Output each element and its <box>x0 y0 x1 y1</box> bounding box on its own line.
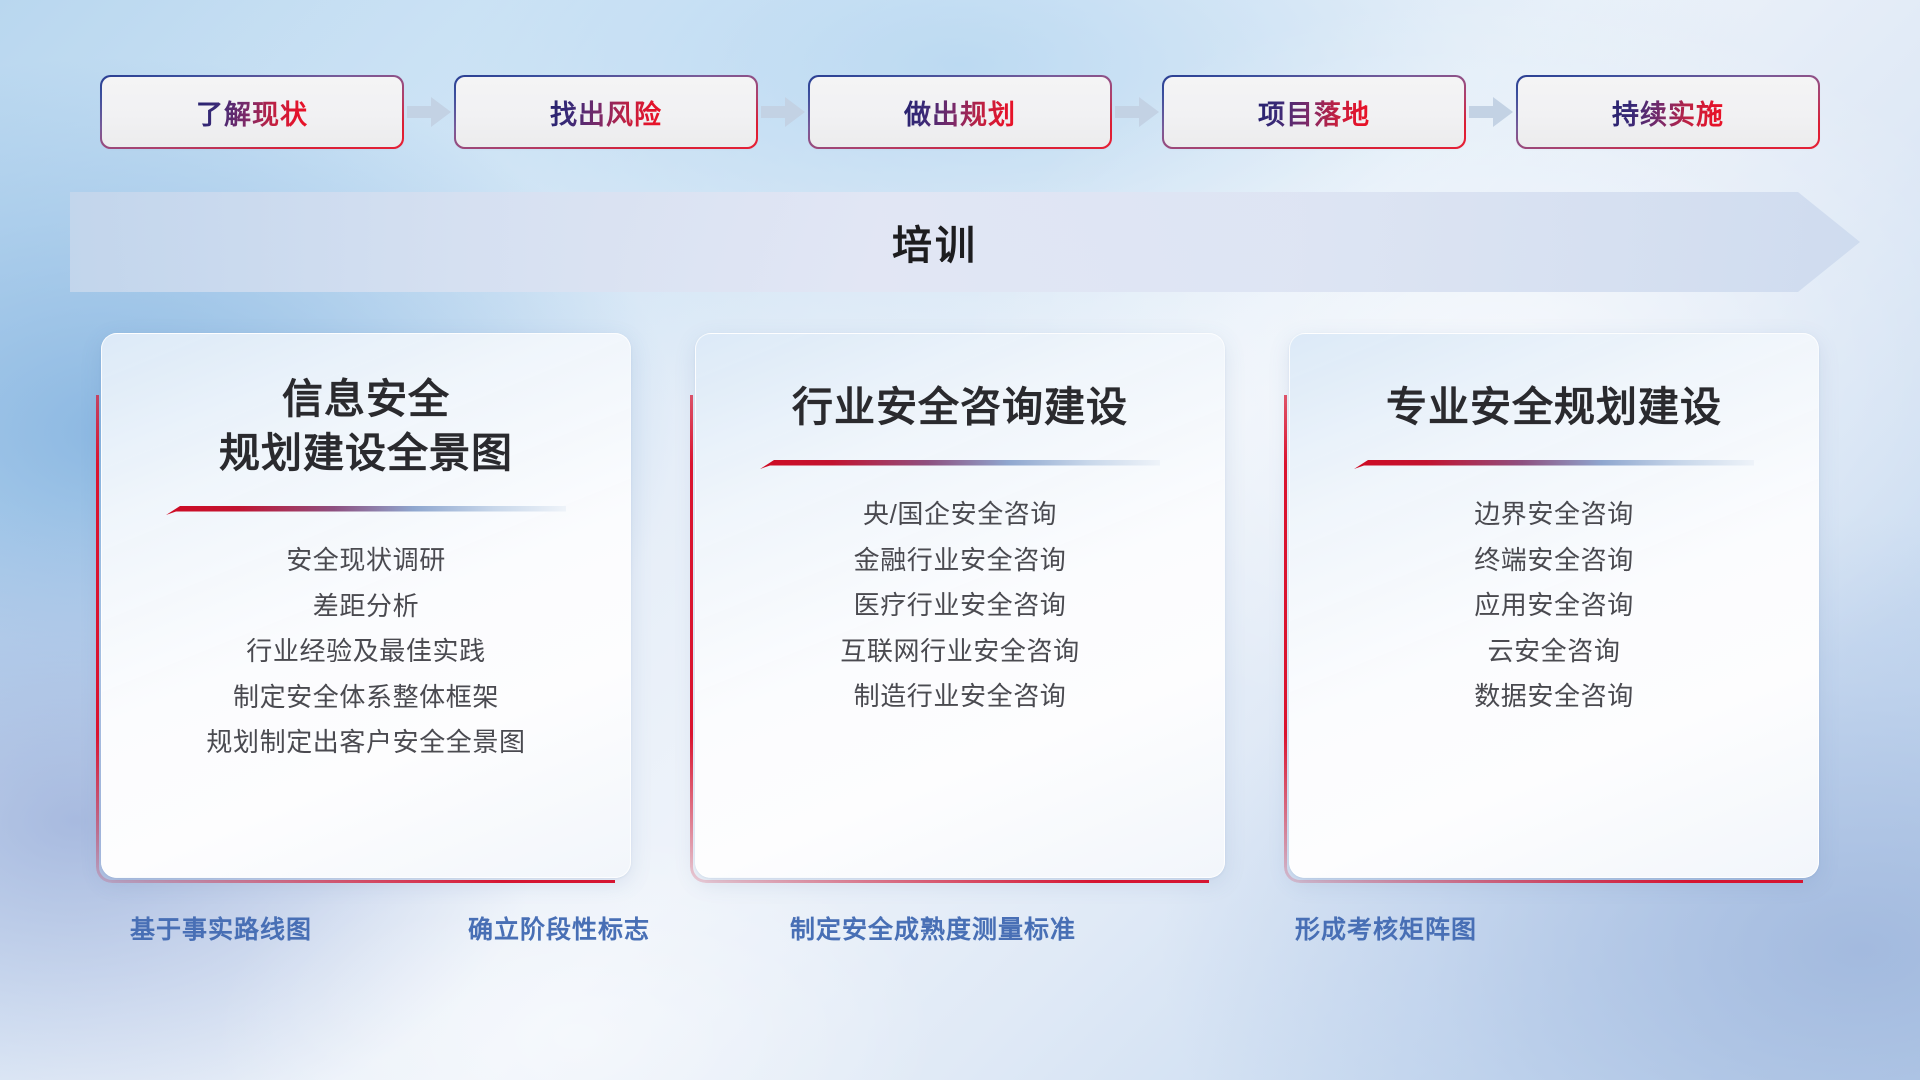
card-3-title: 专业安全规划建设 <box>1386 380 1722 434</box>
card-1[interactable]: 信息安全 规划建设全景图 <box>101 333 631 878</box>
list-item: 制造行业安全咨询 <box>854 680 1067 713</box>
process-step-5[interactable]: 持续实施 <box>1518 77 1818 147</box>
card-3-inner: 专业安全规划建设 <box>1289 333 1819 878</box>
process-step-row: 了解现状 找出风险 做出规划 项目落地 持续实施 <box>0 73 1920 151</box>
card-row: 信息安全 规划建设全景图 <box>0 333 1920 878</box>
card-3[interactable]: 专业安全规划建设 <box>1289 333 1819 878</box>
list-item: 应用安全咨询 <box>1474 589 1634 622</box>
card-1-divider <box>166 506 566 516</box>
process-step-5-label: 持续实施 <box>1612 93 1724 132</box>
process-step-3[interactable]: 做出规划 <box>810 77 1110 147</box>
list-item: 终端安全咨询 <box>1474 544 1634 577</box>
footnote-row: 基于事实路线图 确立阶段性标志 制定安全成熟度测量标准 形成考核矩阵图 <box>0 910 1920 966</box>
list-item: 制定安全体系整体框架 <box>233 681 499 714</box>
process-step-3-label: 做出规划 <box>904 93 1016 132</box>
right-arrow-icon <box>756 97 810 127</box>
list-item: 边界安全咨询 <box>1474 498 1634 531</box>
process-step-4-label: 项目落地 <box>1258 93 1370 132</box>
list-item: 数据安全咨询 <box>1474 680 1634 713</box>
process-step-1[interactable]: 了解现状 <box>102 77 402 147</box>
process-step-4[interactable]: 项目落地 <box>1164 77 1464 147</box>
list-item: 差距分析 <box>313 590 419 623</box>
list-item: 央/国企安全咨询 <box>863 498 1057 531</box>
process-step-2[interactable]: 找出风险 <box>456 77 756 147</box>
list-item: 规划制定出客户安全全景图 <box>206 726 525 759</box>
right-arrow-icon <box>1110 97 1164 127</box>
card-1-inner: 信息安全 规划建设全景图 <box>101 333 631 878</box>
footnote-2: 确立阶段性标志 <box>468 910 650 946</box>
list-item: 医疗行业安全咨询 <box>854 589 1067 622</box>
footnote-4: 形成考核矩阵图 <box>1295 910 1477 946</box>
footnote-1: 基于事实路线图 <box>130 910 312 946</box>
card-3-list: 边界安全咨询 终端安全咨询 应用安全咨询 云安全咨询 数据安全咨询 <box>1290 498 1818 713</box>
card-2-list: 央/国企安全咨询 金融行业安全咨询 医疗行业安全咨询 互联网行业安全咨询 制造行… <box>696 498 1224 713</box>
training-banner: 培训 <box>70 192 1860 292</box>
card-2[interactable]: 行业安全咨询建设 <box>695 333 1225 878</box>
card-2-title: 行业安全咨询建设 <box>792 380 1128 434</box>
footnote-3: 制定安全成熟度测量标准 <box>790 910 1076 946</box>
card-1-title: 信息安全 规划建设全景图 <box>219 372 513 480</box>
right-arrow-icon <box>402 97 456 127</box>
right-arrow-icon <box>1464 97 1518 127</box>
list-item: 云安全咨询 <box>1487 635 1620 668</box>
process-step-1-label: 了解现状 <box>196 93 308 132</box>
list-item: 行业经验及最佳实践 <box>246 635 485 668</box>
list-item: 金融行业安全咨询 <box>854 544 1067 577</box>
process-step-2-label: 找出风险 <box>550 93 662 132</box>
card-1-list: 安全现状调研 差距分析 行业经验及最佳实践 制定安全体系整体框架 规划制定出客户… <box>102 544 630 759</box>
list-item: 互联网行业安全咨询 <box>840 635 1079 668</box>
training-banner-title: 培训 <box>70 192 1860 292</box>
card-3-divider <box>1354 460 1754 470</box>
list-item: 安全现状调研 <box>286 544 446 577</box>
card-2-divider <box>760 460 1160 470</box>
card-2-inner: 行业安全咨询建设 <box>695 333 1225 878</box>
